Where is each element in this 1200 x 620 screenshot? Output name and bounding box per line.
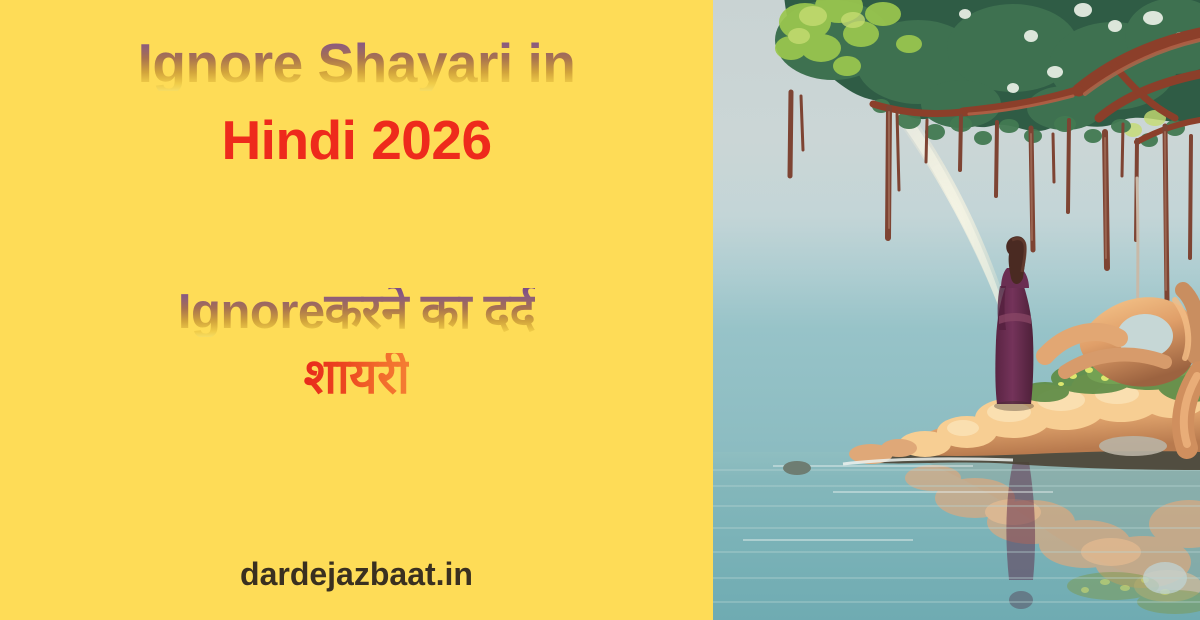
title-line-1: Ignore Shayari in bbox=[138, 36, 576, 91]
subtitle-line-2: शायरी bbox=[304, 353, 410, 402]
lone-rock bbox=[783, 461, 811, 475]
lake-scene-illustration bbox=[713, 0, 1200, 620]
flat-stone bbox=[1099, 436, 1167, 456]
subtitle-line-1: Ignoreकरने का दर्द bbox=[178, 288, 535, 337]
site-url: dardejazbaat.in bbox=[0, 556, 713, 593]
text-panel: Ignore Shayari in Hindi 2026 Ignoreकरने … bbox=[0, 0, 713, 620]
illustration-panel bbox=[713, 0, 1200, 620]
title-line-2: Hindi 2026 bbox=[221, 113, 491, 168]
shayari-banner: Ignore Shayari in Hindi 2026 Ignoreकरने … bbox=[0, 0, 1200, 620]
